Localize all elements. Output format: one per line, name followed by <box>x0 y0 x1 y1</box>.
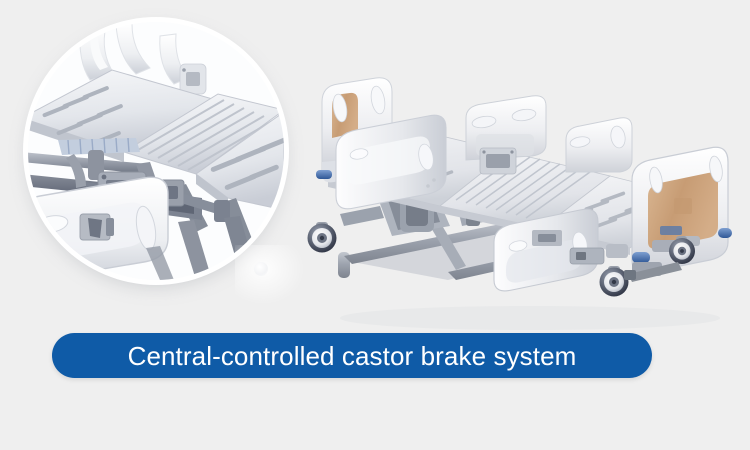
bed-illustration <box>280 30 750 330</box>
headboard-blue-cap <box>316 170 332 179</box>
rail-bracket-far <box>480 148 516 174</box>
caption-banner: Central-controlled castor brake system <box>52 333 652 378</box>
footboard-logo-plate <box>674 198 692 214</box>
caption-text: Central-controlled castor brake system <box>128 343 577 369</box>
bed-shadow <box>340 306 720 330</box>
brake-linkage-assembly <box>532 230 562 246</box>
side-rail-far-foot <box>566 118 632 172</box>
detail-inset-illustration <box>28 22 284 280</box>
banner-stage: Central-controlled castor brake system <box>0 0 750 450</box>
footboard-blue-cap <box>632 252 650 263</box>
control-indicator <box>660 226 682 235</box>
castor-wheel-front-right <box>600 266 629 297</box>
footboard-blue-cap-right <box>718 228 732 238</box>
product-image-hospital-bed <box>280 30 750 330</box>
castor-wheel-front-left <box>308 222 337 253</box>
detail-inset-circle <box>28 22 284 280</box>
inset-brake-lever <box>80 214 114 240</box>
